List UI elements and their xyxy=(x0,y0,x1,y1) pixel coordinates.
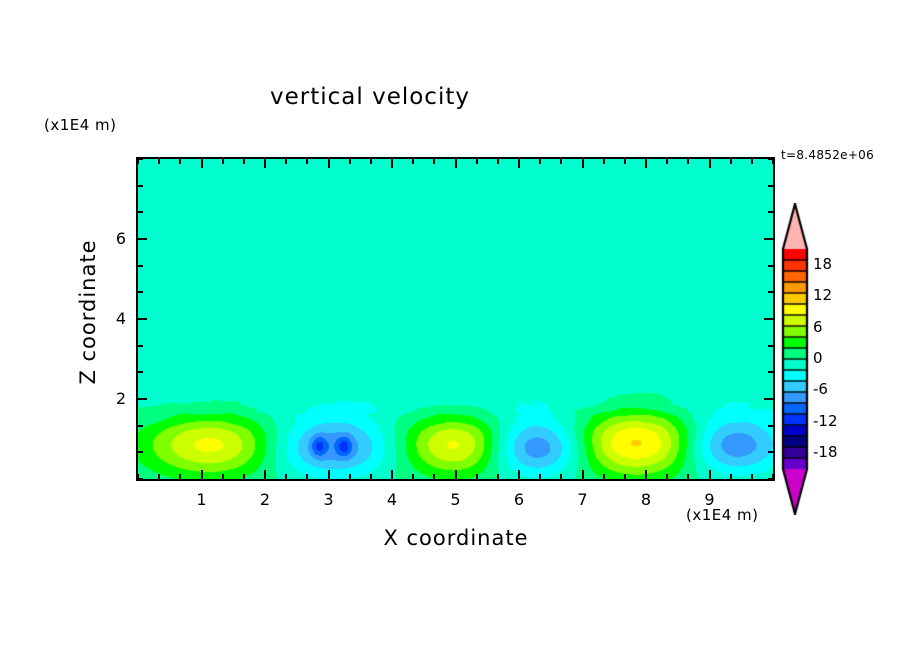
colorbar-tick-label: 12 xyxy=(813,286,832,304)
axis-tick-x xyxy=(709,159,711,168)
axis-tick-x xyxy=(391,159,393,168)
axis-tick-x xyxy=(285,474,287,479)
axis-tick-x xyxy=(539,474,541,479)
axis-tick-x xyxy=(158,159,160,164)
axis-tick-y xyxy=(768,425,773,427)
axis-tick-x xyxy=(455,470,457,479)
axis-tick-y xyxy=(768,158,773,160)
y-tick-label: 4 xyxy=(96,309,126,328)
axis-tick-y xyxy=(138,265,143,267)
axis-tick-x xyxy=(645,470,647,479)
x-tick-label: 6 xyxy=(504,490,534,509)
axis-tick-x xyxy=(476,159,478,164)
axis-tick-x xyxy=(518,470,520,479)
axis-tick-y xyxy=(138,211,143,213)
axis-tick-y xyxy=(768,265,773,267)
axis-tick-x xyxy=(751,474,753,479)
axis-tick-x xyxy=(412,159,414,164)
axis-tick-x xyxy=(179,159,181,164)
axis-tick-x xyxy=(264,470,266,479)
axis-tick-y xyxy=(768,371,773,373)
axis-tick-y xyxy=(138,318,147,320)
colorbar-tick-label: -12 xyxy=(813,412,838,430)
axis-tick-x xyxy=(243,159,245,164)
axis-tick-y xyxy=(138,371,143,373)
axis-tick-x xyxy=(624,474,626,479)
axis-tick-x xyxy=(666,159,668,164)
x-tick-label: 7 xyxy=(568,490,598,509)
axis-tick-y xyxy=(768,291,773,293)
colorbar-tick-label: -18 xyxy=(813,443,838,461)
axis-tick-x xyxy=(222,159,224,164)
axis-tick-x xyxy=(560,474,562,479)
axis-tick-x xyxy=(370,474,372,479)
x-tick-label: 9 xyxy=(695,490,725,509)
axis-tick-x xyxy=(687,474,689,479)
page-title: vertical velocity xyxy=(0,84,740,110)
axis-tick-y xyxy=(138,238,147,240)
x-tick-label: 8 xyxy=(631,490,661,509)
axis-tick-x xyxy=(539,159,541,164)
axis-tick-y xyxy=(138,425,143,427)
axis-tick-x xyxy=(455,159,457,168)
axis-tick-y xyxy=(764,398,773,400)
axis-tick-y xyxy=(138,345,143,347)
colorbar-gradient xyxy=(781,203,809,515)
axis-tick-x xyxy=(687,159,689,164)
axis-tick-x xyxy=(433,159,435,164)
colorbar-tick-label: 6 xyxy=(813,318,823,336)
axis-tick-y xyxy=(768,211,773,213)
axis-tick-y xyxy=(768,478,773,480)
axis-tick-x xyxy=(222,474,224,479)
x-tick-label: 5 xyxy=(441,490,471,509)
axis-tick-x xyxy=(497,474,499,479)
x-tick-label: 2 xyxy=(250,490,280,509)
axis-tick-x xyxy=(730,159,732,164)
axis-tick-x xyxy=(518,159,520,168)
y-tick-label: 6 xyxy=(96,229,126,248)
axis-tick-x xyxy=(201,470,203,479)
axis-tick-x xyxy=(328,470,330,479)
time-annotation: t=8.4852e+06 xyxy=(781,148,874,162)
colorbar-tick-label: 18 xyxy=(813,255,832,273)
axis-tick-x xyxy=(243,474,245,479)
y-tick-label: 2 xyxy=(96,389,126,408)
axis-tick-y xyxy=(768,345,773,347)
colorbar-tick-label: -6 xyxy=(813,380,828,398)
axis-tick-x xyxy=(158,474,160,479)
axis-tick-x xyxy=(285,159,287,164)
axis-tick-x xyxy=(751,159,753,164)
axis-tick-y xyxy=(138,398,147,400)
axis-tick-y xyxy=(138,478,143,480)
axis-tick-x xyxy=(201,159,203,168)
axis-tick-y xyxy=(138,451,143,453)
axis-tick-x xyxy=(730,474,732,479)
axis-tick-x xyxy=(603,159,605,164)
axis-tick-x xyxy=(582,159,584,168)
axis-tick-x xyxy=(497,159,499,164)
colorbar-tick-label: 0 xyxy=(813,349,823,367)
axis-tick-y xyxy=(138,185,143,187)
axis-tick-x xyxy=(645,159,647,168)
axis-tick-x xyxy=(264,159,266,168)
axis-tick-x xyxy=(476,474,478,479)
vertical-velocity-contour-field xyxy=(138,159,773,479)
axis-tick-x xyxy=(433,474,435,479)
axis-tick-y xyxy=(768,451,773,453)
axis-tick-x xyxy=(603,474,605,479)
axis-tick-x xyxy=(349,474,351,479)
x-tick-label: 1 xyxy=(187,490,217,509)
axis-tick-x xyxy=(179,474,181,479)
colorbar xyxy=(781,203,809,515)
axis-tick-x xyxy=(349,159,351,164)
axis-tick-x xyxy=(391,470,393,479)
axis-tick-x xyxy=(370,159,372,164)
axis-tick-x xyxy=(709,470,711,479)
axis-tick-x xyxy=(306,159,308,164)
axis-tick-y xyxy=(138,291,143,293)
axis-tick-y xyxy=(768,185,773,187)
axis-tick-x xyxy=(328,159,330,168)
axis-tick-x xyxy=(624,159,626,164)
contour-plot-area xyxy=(136,157,775,481)
axis-tick-x xyxy=(560,159,562,164)
axis-tick-y xyxy=(138,158,143,160)
axis-tick-y xyxy=(764,318,773,320)
axis-tick-x xyxy=(666,474,668,479)
x-axis-title: X coordinate xyxy=(136,526,776,550)
axis-tick-x xyxy=(412,474,414,479)
axis-tick-y xyxy=(764,238,773,240)
axis-tick-x xyxy=(582,470,584,479)
y-axis-unit-label: (x1E4 m) xyxy=(44,116,117,134)
x-tick-label: 3 xyxy=(314,490,344,509)
axis-tick-x xyxy=(306,474,308,479)
x-tick-label: 4 xyxy=(377,490,407,509)
